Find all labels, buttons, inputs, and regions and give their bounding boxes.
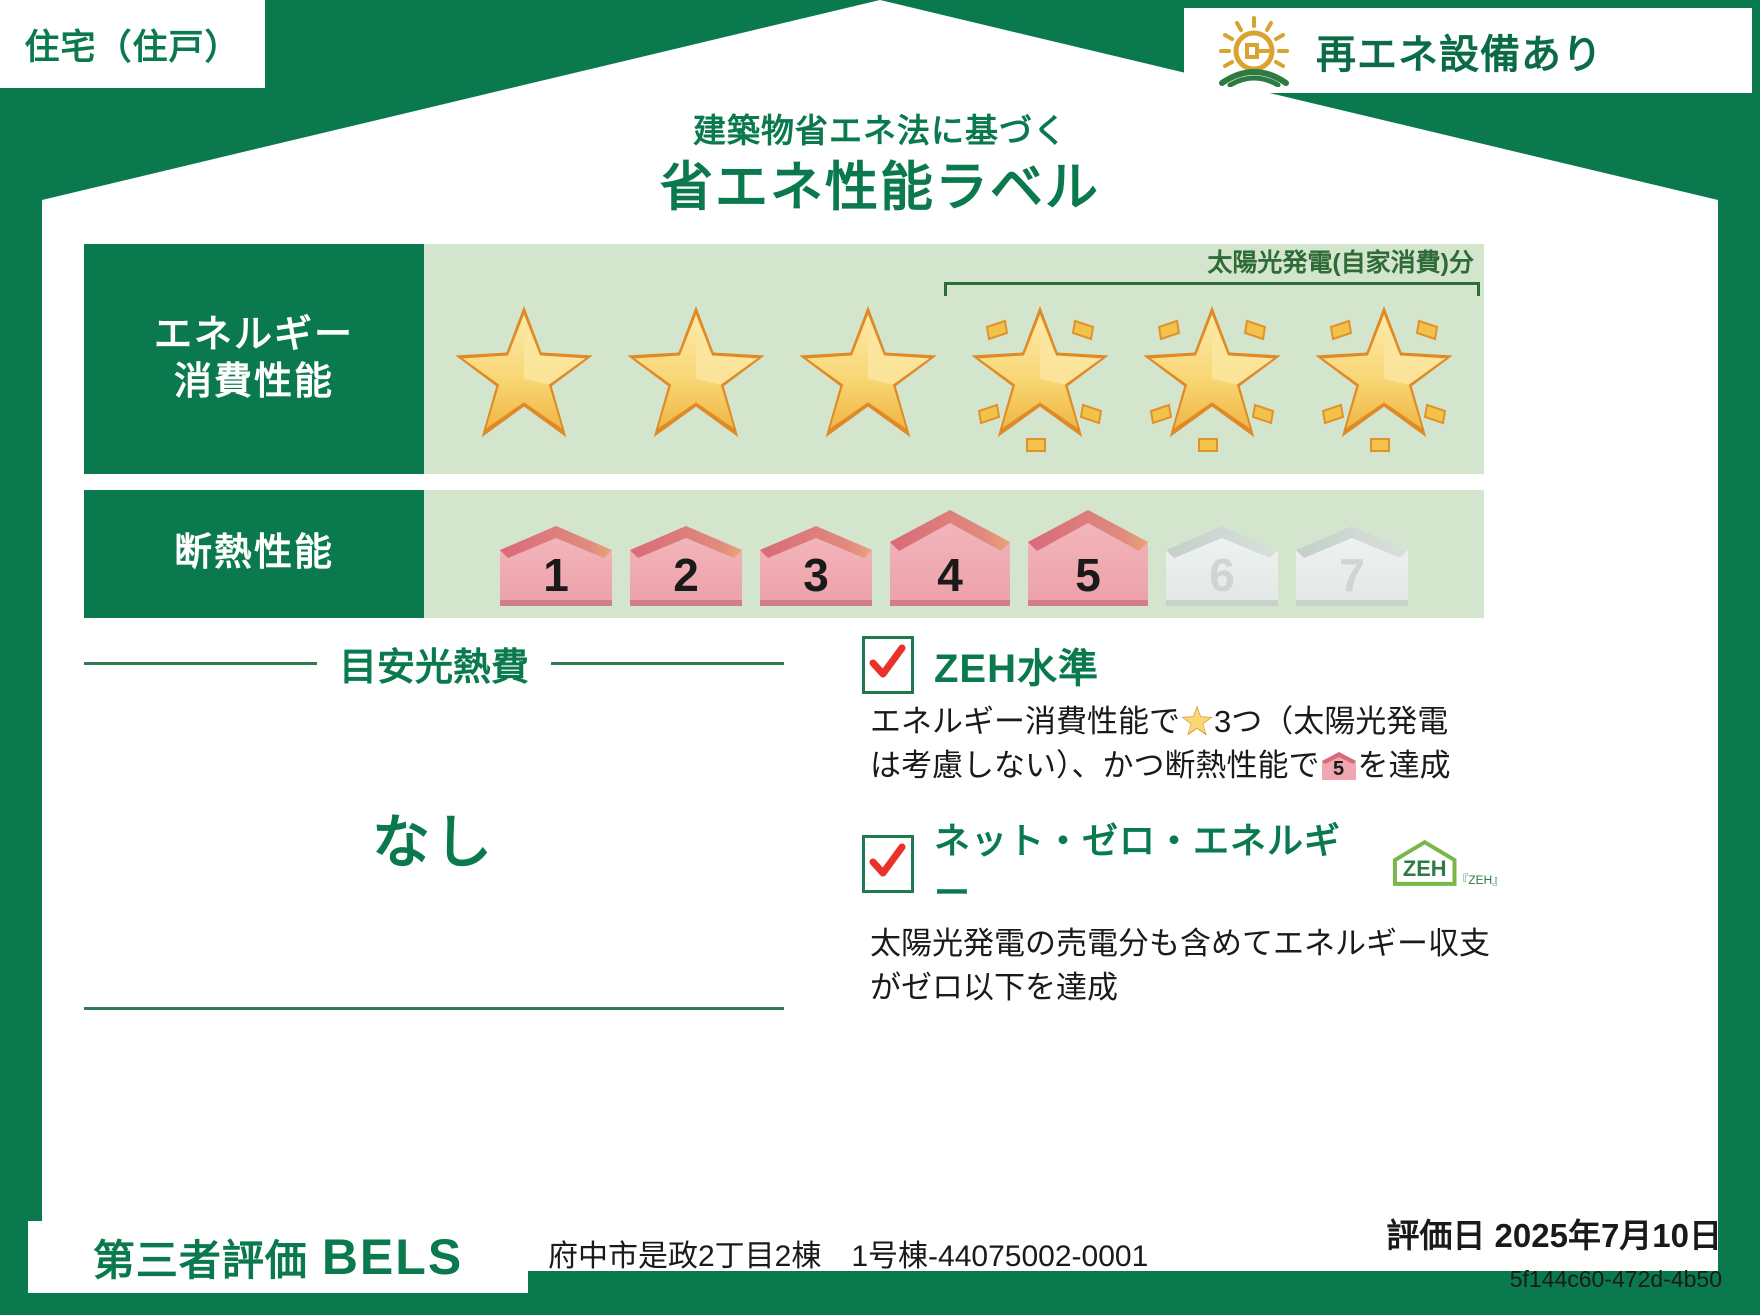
bels-third-party-label: 第三者評価 — [93, 1227, 308, 1288]
checkmark-icon — [868, 643, 906, 683]
insulation-level-3: 3 — [754, 520, 878, 610]
insulation-level-number: 5 — [1022, 548, 1154, 602]
star-6-solar — [1309, 293, 1459, 453]
zeh-desc-part-c: は考慮しない）、かつ断熱性能で — [870, 748, 1320, 783]
insulation-level-5: 5 — [1022, 504, 1154, 610]
insulation-level-2: 2 — [624, 520, 748, 610]
footer: 第三者評価 BELS 府中市是政2丁目2棟 1号棟-44075002-0001 … — [0, 1205, 1760, 1315]
utility-cost-footer-rule — [84, 1007, 784, 1010]
insulation-level-number: 1 — [494, 548, 618, 602]
net-zero-energy-checkbox[interactable] — [862, 835, 914, 893]
solar-sun-icon — [1206, 15, 1302, 87]
bels-brand-label: BELS — [322, 1228, 463, 1286]
zeh-standard-title: ZEH水準 — [934, 636, 1099, 694]
svg-text:『ZEH』: 『ZEH』 — [1456, 873, 1502, 887]
evaluation-date: 評価日 2025年7月10日 — [1386, 1209, 1722, 1257]
insulation-performance-value: 1 2 3 — [424, 490, 1484, 618]
star-2 — [621, 293, 771, 453]
svg-text:ZEH: ZEH — [1403, 856, 1447, 881]
star-icon — [1139, 302, 1285, 444]
insulation-label: 断熱性能 — [174, 530, 334, 578]
bels-energy-label: 住宅（住戸） 再エネ設備あり 建築物省エネ法に基づく 省エネ性能ラベル — [0, 0, 1760, 1315]
page-title: 省エネ性能ラベル — [0, 145, 1760, 221]
solar-bracket-label: 太陽光発電(自家消費)分 — [1207, 243, 1474, 279]
zeh-desc-part-d: を達成 — [1358, 748, 1451, 783]
building-type-label: 住宅（住戸） — [24, 19, 240, 70]
star-icon — [623, 302, 769, 444]
star-icon — [1180, 705, 1214, 737]
star-icon — [451, 302, 597, 444]
energy-label-line2: 消費性能 — [174, 359, 334, 407]
net-zero-energy-description: 太陽光発電の売電分も含めてエネルギー収支がゼロ以下を達成 — [870, 922, 1502, 1010]
zeh-standard-heading: ZEH水準 — [862, 636, 1502, 694]
insulation-level-number: 7 — [1290, 548, 1414, 602]
zeh-standard-description: エネルギー消費性能で3つ（太陽光発電 は考慮しない）、かつ断熱性能で5を達成 — [870, 700, 1502, 788]
net-zero-energy-heading: ネット・ゼロ・エネルギー ZEH 『ZEH』 — [862, 812, 1502, 916]
energy-performance-value: 太陽光発電(自家消費)分 — [424, 244, 1484, 474]
insulation-level-number: 6 — [1160, 548, 1284, 602]
inline-house-number: 5 — [1320, 755, 1358, 783]
checkmark-icon — [868, 842, 906, 882]
property-address: 府中市是政2丁目2棟 1号棟-44075002-0001 — [548, 1231, 1148, 1275]
utility-cost-value: なし — [84, 795, 784, 879]
energy-label-line1: エネルギー — [154, 312, 354, 360]
insulation-level-number: 4 — [884, 548, 1016, 602]
building-type-badge: 住宅（住戸） — [0, 0, 265, 88]
zeh-block: ZEH水準 エネルギー消費性能で3つ（太陽光発電 は考慮しない）、かつ断熱性能で… — [862, 636, 1502, 1010]
insulation-level-4: 4 — [884, 504, 1016, 610]
divider-right — [551, 662, 784, 665]
zeh-standard-checkbox[interactable] — [862, 636, 914, 694]
utility-cost-label: 目安光熱費 — [317, 636, 551, 691]
insulation-performance-row: 断熱性能 — [84, 490, 1484, 618]
utility-cost-block: 目安光熱費 なし — [84, 636, 784, 1010]
insulation-scale: 1 2 3 — [424, 490, 1484, 618]
star-icon — [1311, 302, 1457, 444]
insulation-level-number: 3 — [754, 548, 878, 602]
star-1 — [449, 293, 599, 453]
net-zero-energy-title: ネット・ゼロ・エネルギー — [934, 812, 1375, 916]
inline-house-badge: 5 — [1320, 750, 1358, 782]
bels-badge: 第三者評価 BELS — [28, 1221, 528, 1293]
utility-cost-heading: 目安光熱費 — [84, 636, 784, 691]
zeh-logo-icon: ZEH 『ZEH』 — [1385, 838, 1502, 890]
energy-performance-row: エネルギー 消費性能 太陽光発電(自家消費)分 — [84, 244, 1484, 474]
star-icon — [967, 302, 1113, 444]
insulation-level-7: 7 — [1290, 520, 1414, 610]
star-5-solar — [1137, 293, 1287, 453]
insulation-performance-key: 断熱性能 — [84, 490, 424, 618]
insulation-level-number: 2 — [624, 548, 748, 602]
energy-performance-key: エネルギー 消費性能 — [84, 244, 424, 474]
zeh-desc-part-a: エネルギー消費性能で — [870, 704, 1180, 739]
evaluation-id: 5f144c60-472d-4b50 — [1510, 1266, 1722, 1293]
star-3 — [793, 293, 943, 453]
renewable-energy-label: 再エネ設備あり — [1316, 22, 1603, 80]
insulation-level-6: 6 — [1160, 520, 1284, 610]
renewable-energy-badge: 再エネ設備あり — [1184, 8, 1752, 93]
star-icon — [795, 302, 941, 444]
star-4-solar — [965, 293, 1115, 453]
zeh-desc-part-b: 3つ（太陽光発電 — [1214, 704, 1448, 739]
insulation-level-1: 1 — [494, 520, 618, 610]
divider-left — [84, 662, 317, 665]
star-rating — [424, 278, 1484, 468]
